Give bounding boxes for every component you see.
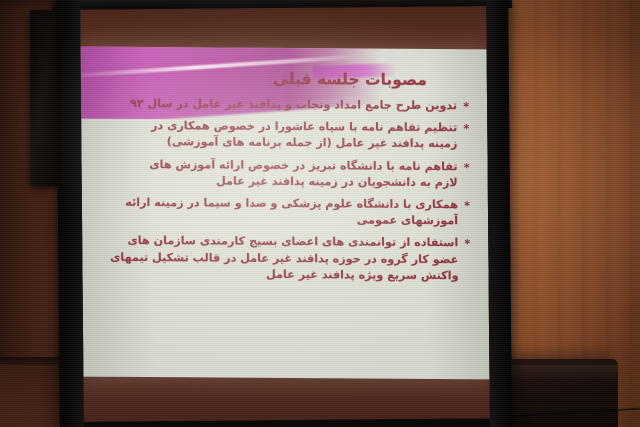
- screen-surface: مصوبات جلسه قبلی تدوین طرح جامع امداد ون…: [80, 6, 490, 422]
- screen-right-rail: [486, 0, 512, 427]
- slide-bullet-1: تدوین طرح جامع امداد ونجات و پدافند غیر …: [101, 96, 469, 115]
- room-photo-scene: مصوبات جلسه قبلی تدوین طرح جامع امداد ون…: [0, 0, 640, 427]
- slide-bullet-5: استفاده از توانمندی های اعضای بسیج کارمن…: [102, 233, 470, 284]
- slide-content: مصوبات جلسه قبلی تدوین طرح جامع امداد ون…: [81, 47, 490, 380]
- projected-slide: مصوبات جلسه قبلی تدوین طرح جامع امداد ون…: [81, 47, 490, 380]
- slide-bullet-4: همکاری با دانشگاه علوم پزشکی و صدا و سیم…: [102, 195, 470, 230]
- slide-bullet-list: تدوین طرح جامع امداد ونجات و پدافند غیر …: [97, 96, 475, 285]
- slide-title: مصوبات جلسه قبلی: [97, 69, 427, 89]
- screen-left-rail: [56, 0, 84, 427]
- projection-screen-assembly: مصوبات جلسه قبلی تدوین طرح جامع امداد ون…: [56, 0, 512, 427]
- slide-bullet-2: تنظیم تفاهم نامه با سپاه عاشورا در خصوص …: [101, 118, 469, 153]
- slide-bullet-3: تفاهم نامه با دانشگاه تبریز در خصوص ارائ…: [101, 156, 469, 191]
